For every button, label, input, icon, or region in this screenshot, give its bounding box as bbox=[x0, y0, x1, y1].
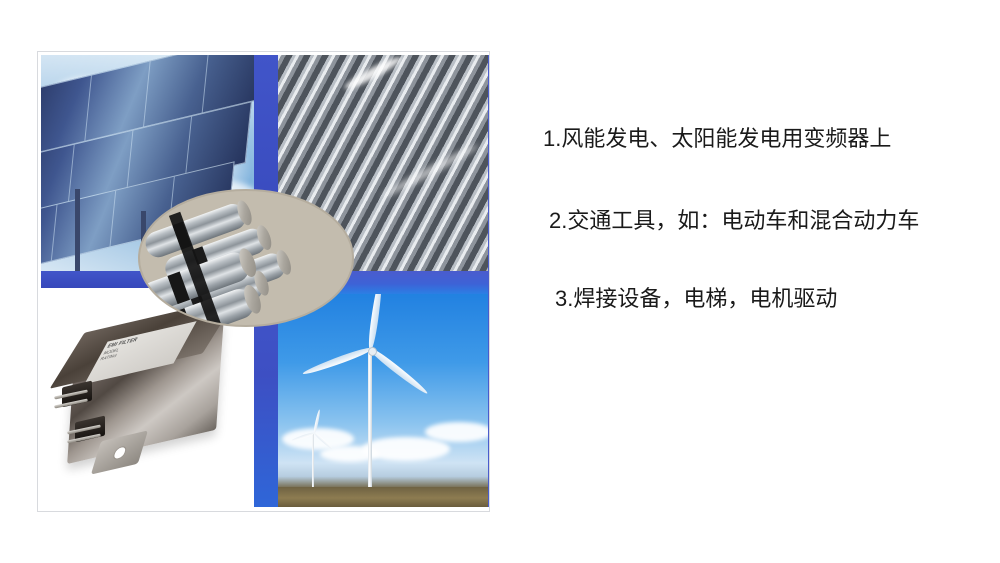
divider-edge-right bbox=[488, 55, 490, 507]
image-wind-turbines bbox=[278, 288, 488, 507]
image-emi-filter-module: EMI FILTER MODEL RATING bbox=[41, 288, 254, 507]
divider-horizontal-left bbox=[41, 271, 254, 288]
panel-support-post bbox=[75, 189, 80, 271]
specular-highlight bbox=[342, 55, 403, 92]
bullet-item-3: 3.焊接设备，电梯，电机驱动 bbox=[555, 286, 963, 312]
panel-support-post bbox=[203, 228, 208, 271]
divider-band-wind bbox=[278, 271, 488, 294]
wind-turbine-mast bbox=[312, 433, 314, 488]
divider-vertical-top bbox=[254, 55, 278, 271]
wind-turbine-mast bbox=[368, 349, 372, 487]
specular-highlight bbox=[379, 142, 480, 201]
turbine-blade bbox=[302, 346, 372, 377]
image-solar-panel-array bbox=[278, 55, 488, 271]
field-ground bbox=[278, 487, 488, 507]
divider-vertical-bottom bbox=[254, 288, 278, 507]
panel-support-post bbox=[141, 211, 146, 271]
bullet-text-block: 1.风能发电、太阳能发电用变频器上 2.交通工具，如：电动车和混合动力车 3.焊… bbox=[543, 126, 963, 312]
bullet-item-2: 2.交通工具，如：电动车和混合动力车 bbox=[549, 208, 963, 234]
application-photo-collage: EMI FILTER MODEL RATING bbox=[37, 51, 490, 512]
image-solar-panels bbox=[41, 55, 254, 271]
cloud-shape bbox=[425, 422, 488, 442]
bullet-item-1: 1.风能发电、太阳能发电用变频器上 bbox=[543, 126, 963, 152]
turbine-blade bbox=[369, 347, 430, 397]
slide-canvas: EMI FILTER MODEL RATING bbox=[0, 0, 1000, 563]
turbine-blade bbox=[367, 288, 384, 350]
